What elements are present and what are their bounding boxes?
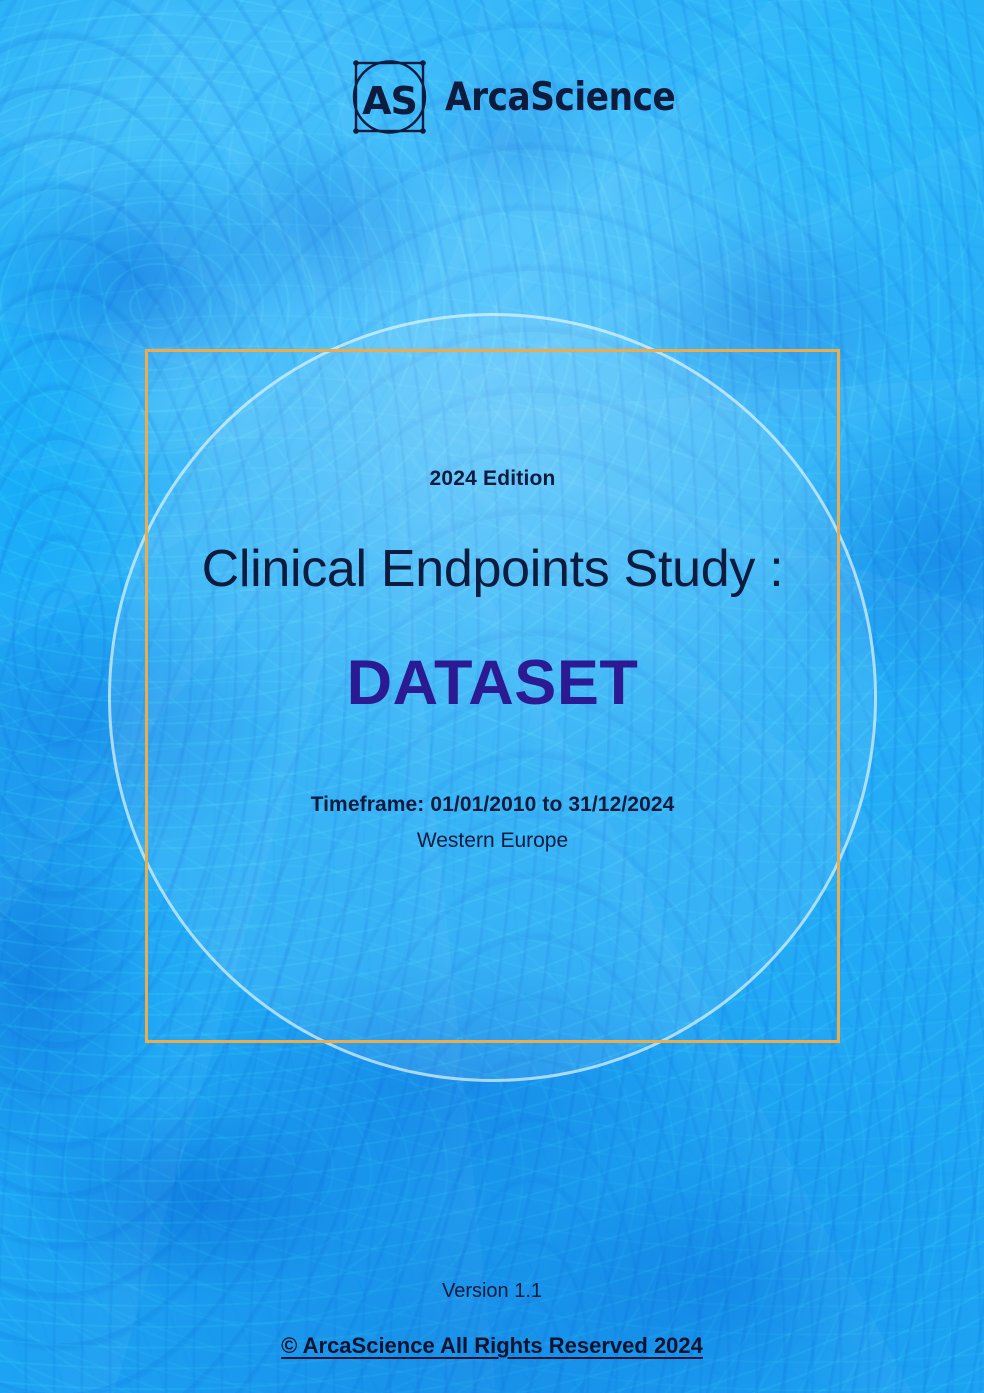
square-circle-logo-icon: AS [352, 58, 428, 136]
cover-title-block: 2024 Edition Clinical Endpoints Study : … [145, 349, 840, 1043]
brand-name: ArcaScience [445, 75, 675, 120]
version-label: Version 1.1 [442, 1280, 542, 1303]
document-cover-page: AS ArcaScience 2024 Edition Clinical End… [0, 0, 984, 1393]
timeframe-label: Timeframe: 01/01/2010 to 31/12/2024 [311, 793, 675, 817]
copyright-link[interactable]: © ArcaScience All Rights Reserved 2024 [281, 1333, 703, 1359]
cover-footer: Version 1.1 © ArcaScience All Rights Res… [0, 1280, 984, 1359]
study-title: Clinical Endpoints Study : [202, 539, 784, 599]
brand-logo: AS ArcaScience [352, 58, 707, 136]
region-label: Western Europe [417, 829, 568, 853]
document-type: DATASET [347, 647, 639, 719]
edition-label: 2024 Edition [429, 467, 555, 491]
svg-text:AS: AS [362, 79, 417, 123]
